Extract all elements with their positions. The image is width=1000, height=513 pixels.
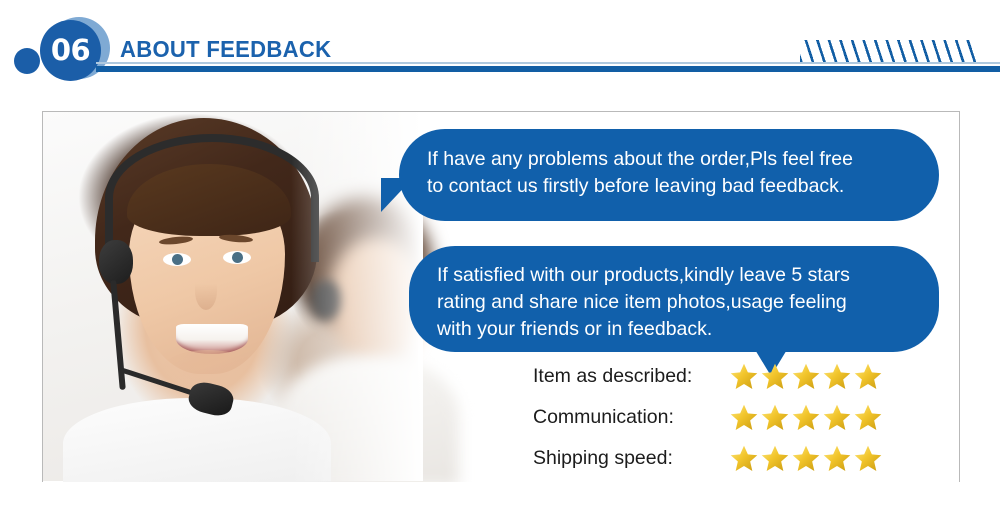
agent-iris-left (172, 254, 183, 265)
rating-row-communication: Communication: (533, 397, 953, 438)
star-icon (760, 444, 790, 473)
star-icon (822, 362, 852, 391)
section-number-badge: 06 (40, 20, 101, 81)
star-icon (729, 403, 759, 432)
rating-label: Shipping speed: (533, 447, 725, 470)
star-icon (760, 403, 790, 432)
bubble-2-line-3: with your friends or in feedback. (437, 316, 939, 343)
star-rating-shipping-speed (729, 444, 883, 473)
diagonal-stripes-decoration (800, 40, 976, 62)
star-icon (853, 444, 883, 473)
star-rating-item-as-described (729, 362, 883, 391)
rating-list: Item as described: Communication: Shippi… (533, 356, 953, 479)
star-icon (853, 362, 883, 391)
header-rule-thin (96, 62, 1000, 64)
agent-nose (195, 272, 217, 310)
rating-row-shipping-speed: Shipping speed: (533, 438, 953, 479)
headset-earcup-icon (99, 240, 133, 284)
page-title: ABOUT FEEDBACK (120, 36, 331, 63)
rating-label: Item as described: (533, 365, 725, 388)
star-icon (729, 444, 759, 473)
section-header: 06 ABOUT FEEDBACK (0, 0, 1000, 100)
star-icon (729, 362, 759, 391)
star-icon (760, 362, 790, 391)
bubble-1-line-1: If have any problems about the order,Pls… (427, 146, 939, 173)
star-icon (853, 403, 883, 432)
star-icon (791, 362, 821, 391)
star-icon (822, 444, 852, 473)
rating-row-item-as-described: Item as described: (533, 356, 953, 397)
section-number-label: 06 (51, 36, 90, 65)
rating-label: Communication: (533, 406, 725, 429)
speech-bubble-satisfied: If satisfied with our products,kindly le… (409, 246, 939, 352)
footer-whitespace (0, 482, 1000, 513)
bubble-2-line-2: rating and share nice item photos,usage … (437, 289, 939, 316)
star-icon (791, 403, 821, 432)
bubble-1-line-2: to contact us firstly before leaving bad… (427, 173, 939, 200)
feedback-content-panel: If have any problems about the order,Pls… (42, 111, 960, 484)
star-icon (791, 444, 821, 473)
customer-service-agent-photo (43, 112, 418, 481)
star-icon (822, 403, 852, 432)
agent-iris-right (232, 252, 243, 263)
decorative-dot-icon (14, 48, 40, 74)
star-rating-communication (729, 403, 883, 432)
header-rule-thick (96, 66, 1000, 72)
speech-bubble-problems: If have any problems about the order,Pls… (399, 129, 939, 221)
bubble-2-line-1: If satisfied with our products,kindly le… (437, 262, 939, 289)
